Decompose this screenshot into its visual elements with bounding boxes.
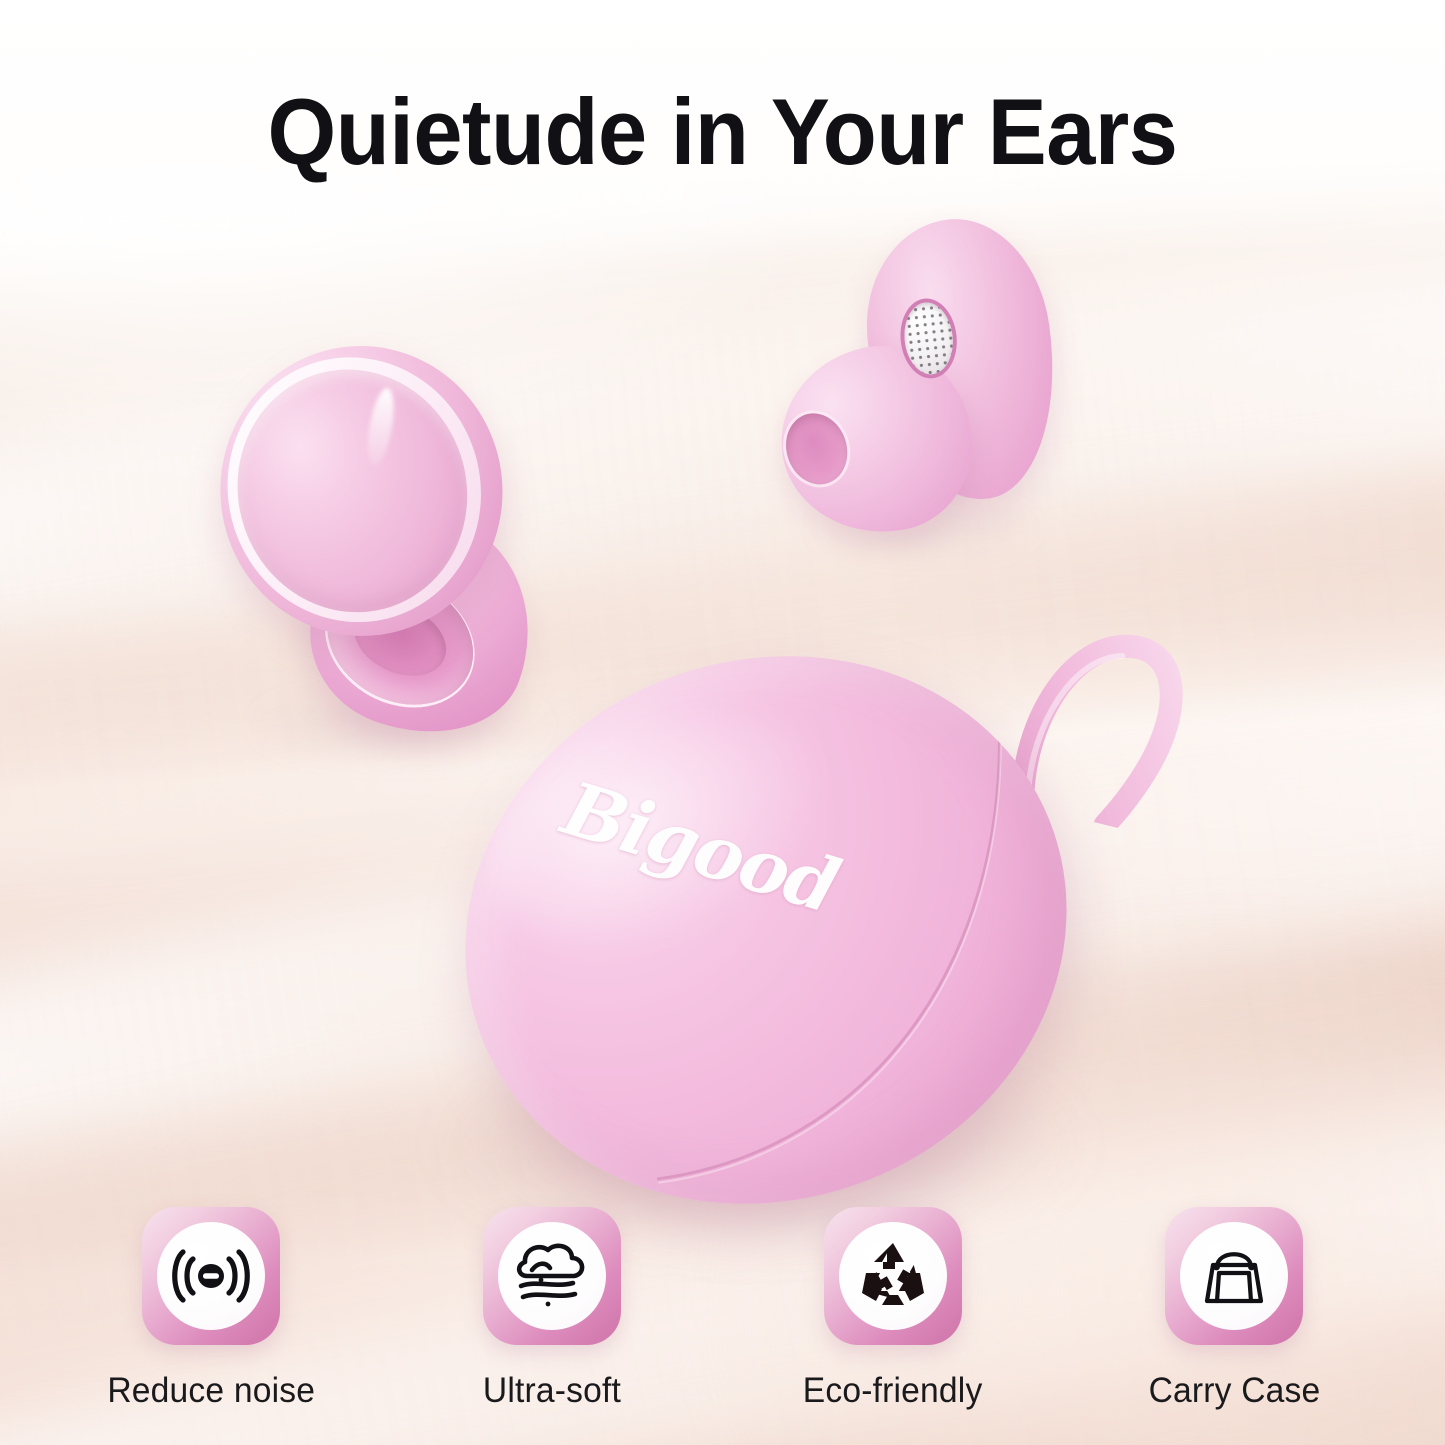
soft-cloud-icon [498,1222,606,1330]
earbud-right-back [775,207,1067,545]
feature-item-eco-friendly[interactable]: Eco-friendly [778,1207,1008,1411]
noise-cancelling-icon [157,1222,265,1330]
page-title: Quietude in Your Ears [43,78,1401,186]
mesh-grille-icon [901,300,956,377]
earbud-left-front [197,322,568,764]
feature-label: Carry Case [1148,1371,1320,1411]
feature-label: Ultra-soft [483,1371,621,1411]
feature-tile [142,1207,280,1345]
feature-label: Reduce noise [107,1371,315,1411]
feature-tile [824,1207,962,1345]
handbag-icon [1180,1222,1288,1330]
feature-tile [1165,1207,1303,1345]
feature-tile [483,1207,621,1345]
product-marketing-image: Quietude in Your Ears [0,0,1445,1445]
recycle-icon [839,1222,947,1330]
feature-row: Reduce noise Ultra-soft [0,1207,1445,1411]
feature-label: Eco-friendly [803,1371,983,1411]
feature-item-reduce-noise[interactable]: Reduce noise [96,1207,326,1411]
feature-item-ultra-soft[interactable]: Ultra-soft [437,1207,667,1411]
feature-item-carry-case[interactable]: Carry Case [1119,1207,1349,1411]
